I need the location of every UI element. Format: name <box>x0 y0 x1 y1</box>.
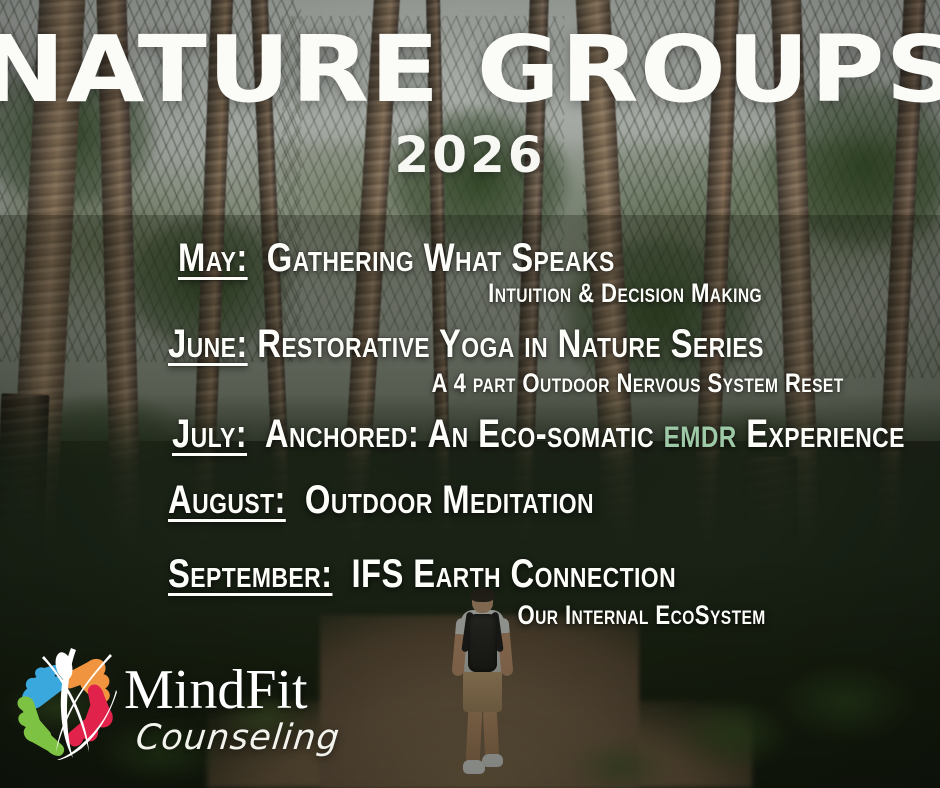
spacer-july <box>247 412 265 456</box>
program-title-september: IFS Earth Connection <box>352 552 677 596</box>
spacer-september <box>332 552 351 596</box>
program-subtitle-may: Intuition & Decision Making <box>488 278 762 309</box>
spacer-july-2 <box>654 412 664 456</box>
program-row-july: July: Anchored: An Eco-somatic EMDR Expe… <box>172 412 940 457</box>
spacer-july-3 <box>737 412 747 456</box>
program-line-june: June: Restorative Yoga in Nature Series <box>168 322 764 367</box>
year-label: 2026 <box>0 126 940 184</box>
program-subtitle-row-june: A 4 part Outdoor Nervous System Reset <box>341 368 844 399</box>
month-label-june: June: <box>168 322 248 366</box>
program-subtitle-row-may: Intuition & Decision Making <box>428 278 762 309</box>
mindfit-logo[interactable]: MindFit Counseling <box>14 640 324 780</box>
nature-groups-poster: NATURE GROUPS 2026 May: Gathering What S… <box>0 0 940 788</box>
program-subtitle-september: Our Internal EcoSystem <box>518 600 766 631</box>
program-subtitle-row-september: Our Internal EcoSystem <box>463 600 766 631</box>
program-line-august: August: Outdoor Meditation <box>168 478 594 523</box>
program-name-may <box>248 236 267 280</box>
month-label-may: May: <box>178 236 248 280</box>
program-title-july-suffix: Experience <box>746 412 905 456</box>
program-title-july: Anchored: An Eco-somatic <box>265 412 654 456</box>
program-row-may: May: Gathering What Speaks <box>178 236 711 281</box>
month-label-august: August: <box>168 478 286 522</box>
program-subtitle-june: A 4 part Outdoor Nervous System Reset <box>432 368 844 399</box>
program-title-june: Restorative Yoga in Nature Series <box>257 322 764 366</box>
program-title-august: Outdoor Meditation <box>305 478 594 522</box>
program-row-june: June: Restorative Yoga in Nature Series <box>168 322 895 367</box>
poster-content: NATURE GROUPS 2026 May: Gathering What S… <box>0 0 940 788</box>
mindfit-logo-mark-icon <box>14 644 132 760</box>
logo-brand-name: MindFit <box>124 662 308 718</box>
program-line-july: July: Anchored: An Eco-somatic EMDR Expe… <box>172 412 905 457</box>
month-label-july: July: <box>172 412 247 456</box>
logo-tagline: Counseling <box>134 718 342 758</box>
spacer-june <box>248 322 258 366</box>
program-line-may: May: Gathering What Speaks <box>178 236 615 281</box>
month-label-september: September: <box>168 552 332 596</box>
program-highlight-emdr: EMDR <box>664 421 737 454</box>
program-title-may: Gathering What Speaks <box>267 236 615 280</box>
page-title: NATURE GROUPS <box>0 26 940 113</box>
program-row-september: September: IFS Earth Connection <box>168 552 788 597</box>
program-row-august: August: Outdoor Meditation <box>168 478 688 523</box>
program-line-september: September: IFS Earth Connection <box>168 552 676 597</box>
spacer-august <box>286 478 305 522</box>
